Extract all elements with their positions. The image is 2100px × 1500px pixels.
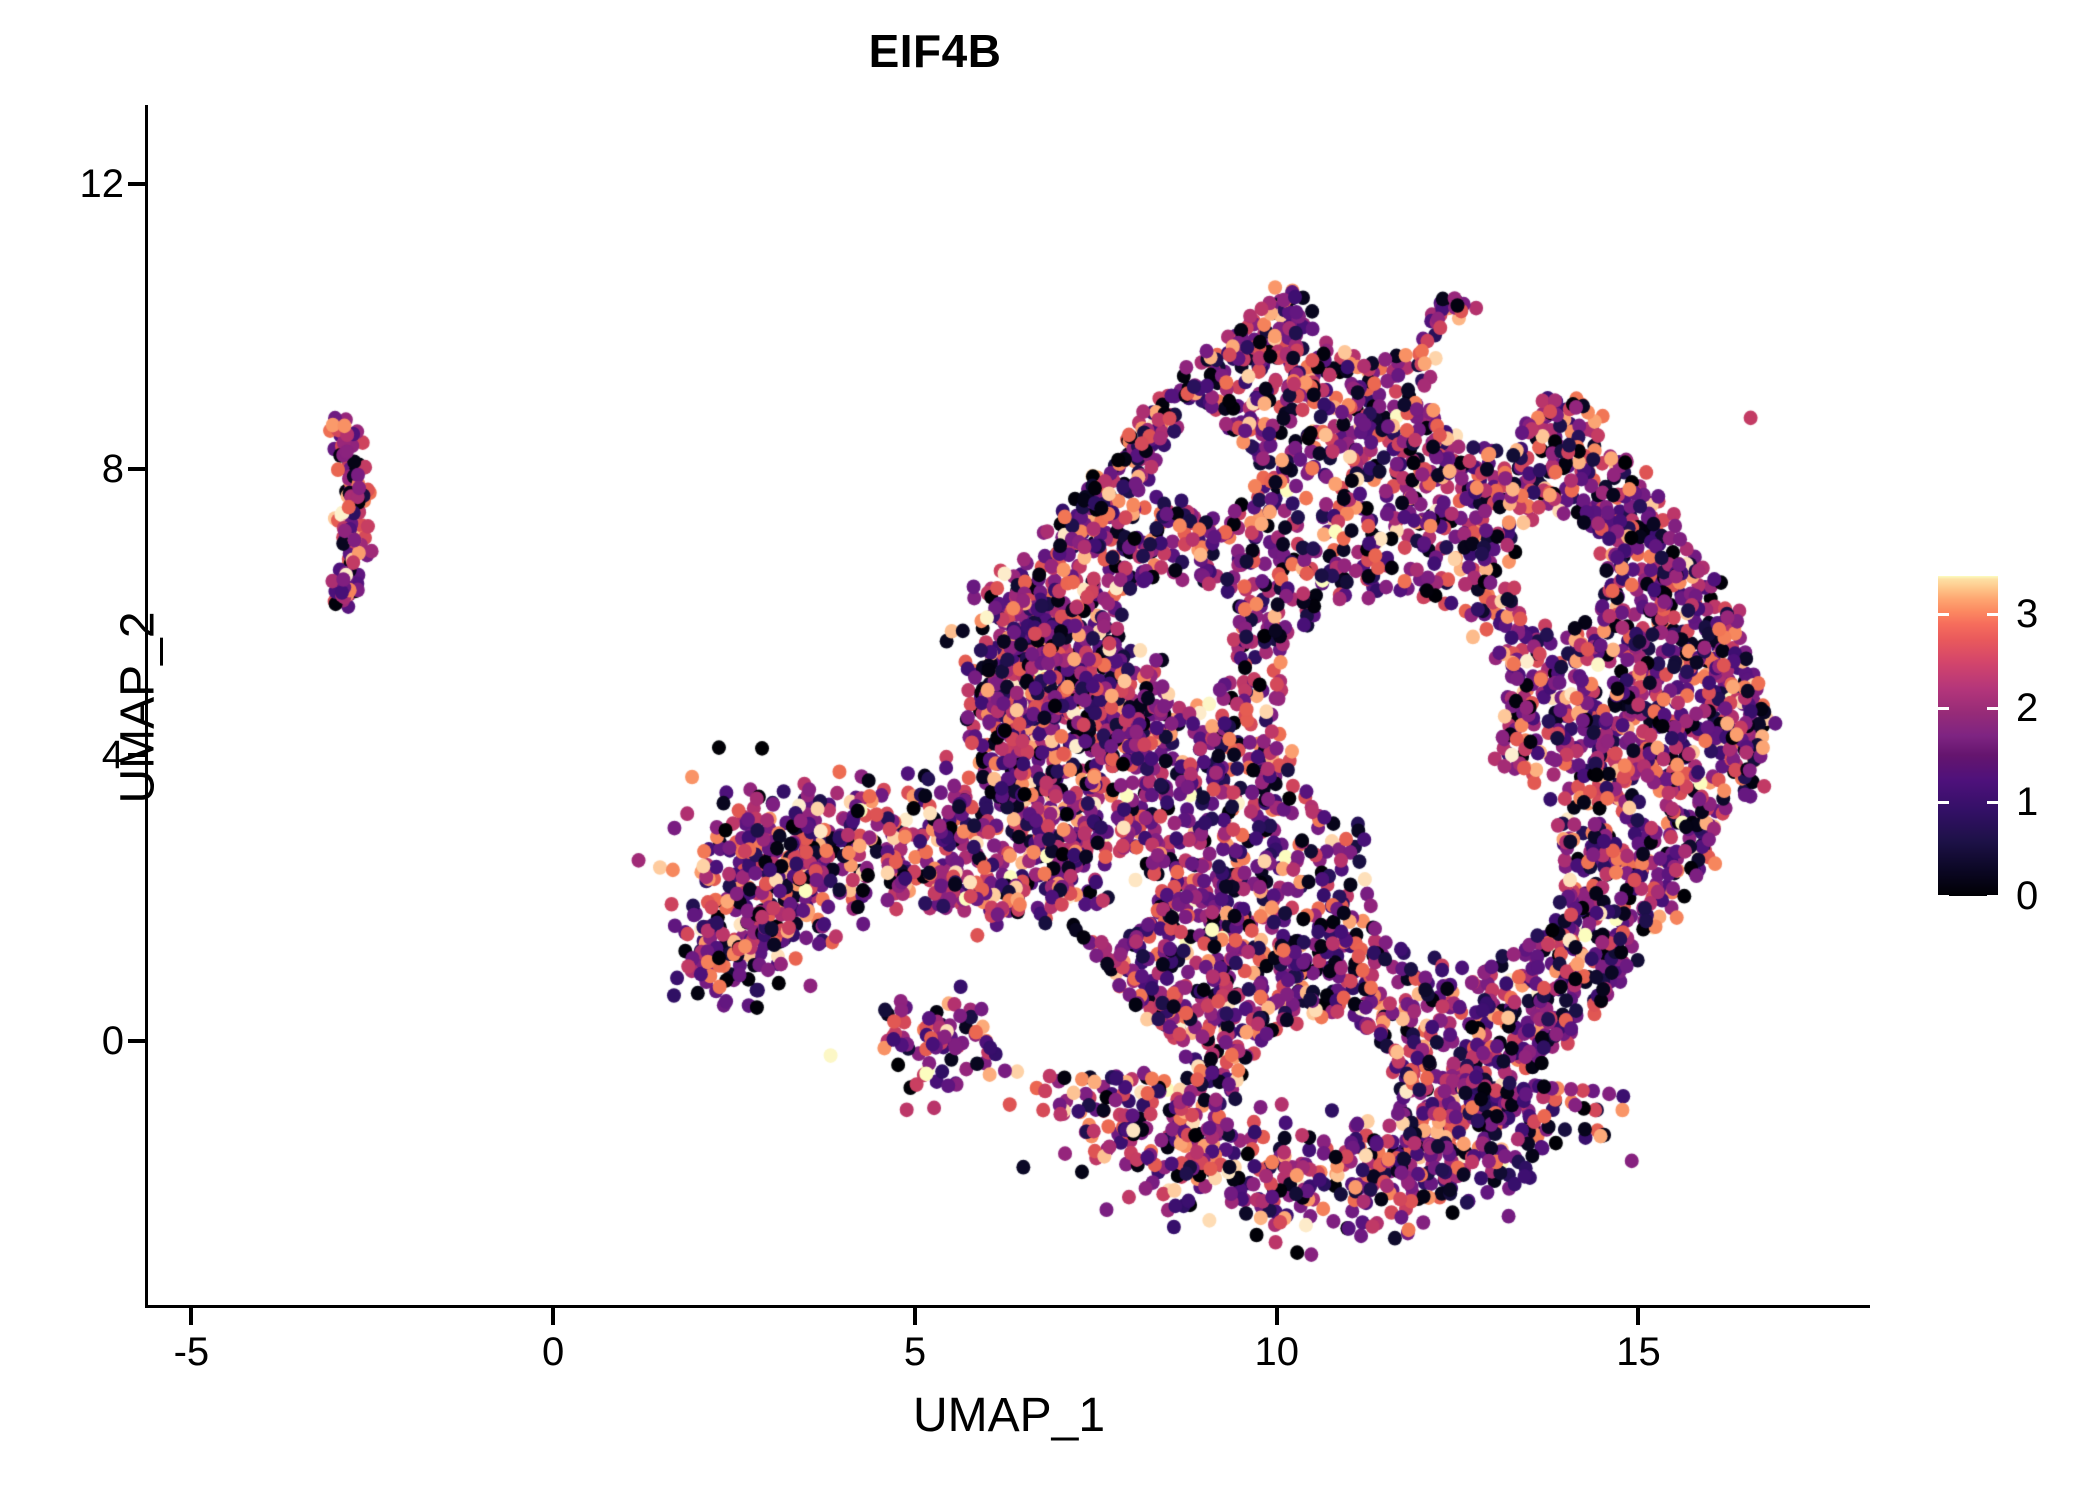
color-legend-tick-mark [1938, 895, 1949, 898]
scatter-plot-panel [148, 105, 1870, 1305]
color-legend-tick-label: 0 [2016, 873, 2038, 919]
y-axis-title: UMAP_2 [111, 308, 166, 1108]
x-tick-label: 5 [855, 1328, 975, 1376]
color-legend-tick-mark [1987, 801, 1998, 804]
x-tick-mark [189, 1308, 193, 1325]
color-legend-tick-mark [1938, 613, 1949, 616]
scatter-points-layer [148, 105, 1870, 1305]
y-tick-mark [128, 182, 145, 186]
color-legend-gradient-bar [1938, 576, 1998, 896]
x-tick-label: 0 [493, 1328, 613, 1376]
color-legend: 3210 [1938, 576, 2088, 906]
color-legend-tick-mark [1938, 707, 1949, 710]
color-legend-tick-mark [1987, 895, 1998, 898]
y-tick-label: 12 [80, 160, 125, 208]
x-tick-mark [913, 1308, 917, 1325]
x-tick-mark [1275, 1308, 1279, 1325]
x-tick-label: 10 [1217, 1328, 1337, 1376]
color-legend-tick-mark [1987, 613, 1998, 616]
x-tick-mark [1636, 1308, 1640, 1325]
color-legend-tick-label: 2 [2016, 685, 2038, 731]
x-tick-label: 15 [1578, 1328, 1698, 1376]
color-legend-tick-label: 3 [2016, 591, 2038, 637]
color-legend-tick-label: 1 [2016, 779, 2038, 825]
x-tick-mark [551, 1308, 555, 1325]
page-title: EIF4B [0, 24, 1870, 78]
feature-plot-figure: EIF4B -5051015 04812 UMAP_1 UMAP_2 3210 [0, 0, 2100, 1500]
x-tick-label: -5 [131, 1328, 251, 1376]
x-axis-title: UMAP_1 [148, 1388, 1870, 1443]
color-legend-tick-mark [1987, 707, 1998, 710]
color-legend-tick-mark [1938, 801, 1949, 804]
